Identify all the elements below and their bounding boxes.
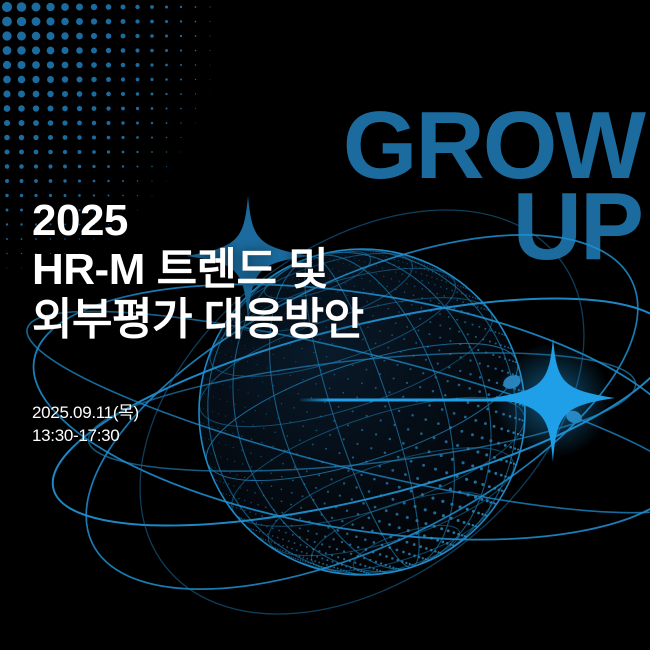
orbit-satellites: [501, 373, 583, 426]
schedule-time: 13:30-17:30: [32, 425, 139, 448]
schedule-block: 2025.09.11(목) 13:30-17:30: [32, 402, 139, 448]
headline-subject: HR-M 트렌드 및: [32, 245, 364, 294]
accent-line: [300, 399, 555, 402]
headline-block: 2025 HR-M 트렌드 및 외부평가 대응방안: [32, 196, 364, 344]
schedule-date: 2025.09.11(목): [32, 402, 139, 425]
orbit-ring-3: [83, 332, 641, 493]
poster-canvas: GROW UP: [0, 0, 650, 650]
headline-year: 2025: [32, 196, 364, 245]
wordmark: GROW UP: [343, 106, 644, 267]
headline-topic: 외부평가 대응방안: [32, 295, 364, 344]
sparkle-bright: [491, 338, 615, 462]
